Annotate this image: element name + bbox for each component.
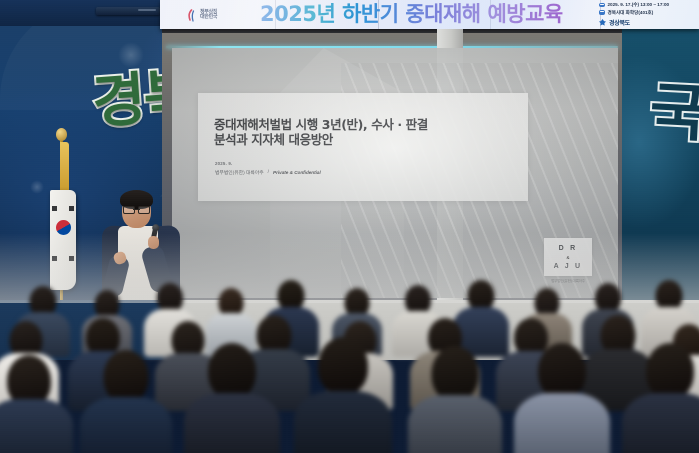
slide-title: 중대재해처벌법 시행 3년(반), 수사 · 판결 분석과 지자체 대응방안 bbox=[214, 117, 518, 147]
banner-title: 2025년 하반기 중대재해 예방교육 bbox=[260, 1, 563, 28]
trigram bbox=[52, 206, 57, 211]
trigram bbox=[69, 206, 74, 211]
audience-member bbox=[628, 341, 699, 453]
audience-member bbox=[86, 347, 166, 453]
flag-pole-finial bbox=[56, 128, 67, 141]
led-banner: 정부상징 대한민국 2025년 하반기 중대재해 예방교육 2025. 9. 1… bbox=[160, 0, 699, 29]
government-swoosh-icon bbox=[186, 9, 197, 22]
slide-subtitle-row: 법무법인(유한) 대륙아주 / Private & Confidential bbox=[215, 169, 321, 176]
audience-member bbox=[414, 343, 496, 453]
bokeh-light bbox=[30, 180, 44, 194]
glasses-icon bbox=[123, 206, 150, 212]
wall-ledge bbox=[162, 29, 622, 33]
audience-member bbox=[300, 337, 386, 453]
banner-info-location-row: 경북사대 화학당(401호) bbox=[599, 10, 695, 16]
banner-info-location: 경북사대 화학당(401호) bbox=[608, 10, 654, 16]
gyeongsangbuk-do-emblem-icon bbox=[599, 19, 606, 26]
banner-info-block: 2025. 9. 17.(수) 13:00 ~ 17:00 경북사대 화학당(4… bbox=[599, 2, 695, 27]
government-logo: 정부상징 대한민국 bbox=[186, 6, 250, 24]
slide-confidential-note: Private & Confidential bbox=[273, 170, 321, 175]
audience-member bbox=[520, 341, 604, 453]
audience-row-front bbox=[0, 339, 699, 453]
audience-member bbox=[0, 351, 68, 453]
banner-organization-name: 경상북도 bbox=[609, 18, 630, 27]
audience bbox=[0, 243, 699, 453]
backdrop-calligraphy-right: 국 bbox=[648, 61, 699, 154]
banner-organization-row: 경상북도 bbox=[599, 18, 695, 27]
slide-date: 2025. 9. bbox=[215, 161, 232, 166]
flag-tassel bbox=[60, 142, 69, 194]
location-icon bbox=[599, 10, 605, 15]
government-logo-text: 정부상징 대한민국 bbox=[200, 10, 217, 21]
calendar-icon bbox=[599, 3, 605, 8]
banner-info-date: 2025. 9. 17.(수) 13:00 ~ 17:00 bbox=[608, 2, 670, 8]
slide-title-card: 중대재해처벌법 시행 3년(반), 수사 · 판결 분석과 지자체 대응방안 2… bbox=[198, 93, 528, 201]
projector-rail bbox=[96, 7, 160, 15]
banner-info-date-row: 2025. 9. 17.(수) 13:00 ~ 17:00 bbox=[599, 2, 695, 8]
audience-member bbox=[190, 341, 274, 453]
slide-firm-name: 법무법인(유한) 대륙아주 bbox=[215, 169, 264, 176]
gov-logo-line2: 대한민국 bbox=[200, 14, 217, 20]
event-photo-scene: 경북 국 정부상징 대한민국 2025년 하반기 중대재해 예방교육 2 bbox=[0, 0, 699, 453]
ceiling bbox=[0, 0, 162, 26]
